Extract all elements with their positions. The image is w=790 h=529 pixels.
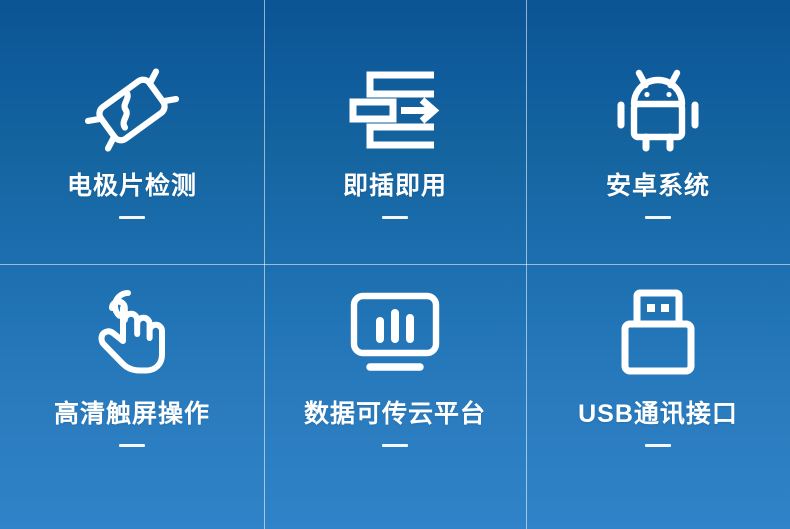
feature-grid: 电极片检测 即插即用: [0, 0, 790, 529]
feature-label: 数据可传云平台: [304, 402, 486, 427]
feature-cell-electrode-detection[interactable]: 电极片检测: [0, 0, 264, 264]
feature-banner: 电极片检测 即插即用: [0, 0, 790, 529]
feature-underline: [645, 444, 671, 447]
usb-drive-icon: [606, 284, 710, 380]
feature-label: 电极片检测: [67, 174, 197, 199]
feature-underline: [119, 216, 145, 219]
feature-underline: [119, 444, 145, 447]
feature-label: 即插即用: [343, 174, 447, 199]
feature-underline: [382, 444, 408, 447]
feature-underline: [645, 216, 671, 219]
feature-label: 安卓系统: [606, 174, 710, 199]
electrode-pad-icon: [80, 66, 184, 154]
feature-cell-plug-and-play[interactable]: 即插即用: [264, 0, 526, 264]
feature-cell-hd-touchscreen[interactable]: 高清触屏操作: [0, 264, 264, 529]
feature-cell-usb-interface[interactable]: USB通讯接口: [526, 264, 790, 529]
touch-hand-icon: [80, 284, 184, 380]
monitor-chart-icon: [343, 284, 447, 380]
android-robot-icon: [606, 66, 710, 154]
plug-and-play-icon: [343, 66, 447, 154]
feature-cell-cloud-data-upload[interactable]: 数据可传云平台: [264, 264, 526, 529]
feature-cell-android-system[interactable]: 安卓系统: [526, 0, 790, 264]
feature-label: USB通讯接口: [578, 402, 738, 427]
feature-label: 高清触屏操作: [54, 402, 210, 427]
feature-underline: [382, 216, 408, 219]
